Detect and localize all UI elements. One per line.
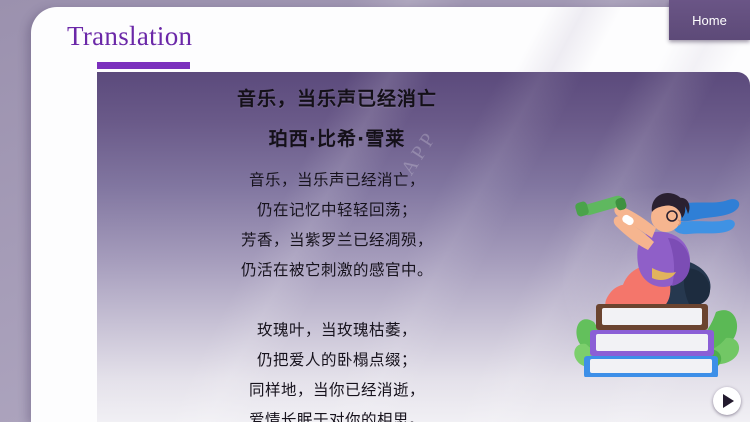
poem-line: 仍把爱人的卧榻点缀； [97,345,577,375]
poem-line: 音乐，当乐声已经消亡， [97,165,577,195]
slide-white-panel: Translation APP 音乐，当乐声已经消亡 珀西·比希·雪莱 音乐，当… [31,7,750,422]
poem-title: 音乐，当乐声已经消亡 [97,84,577,111]
stanza-gap [97,285,577,315]
slide-root: Home Translation APP 音乐，当乐声已经消亡 珀西·比希·雪莱… [0,0,750,422]
poem-line: 玫瑰叶，当玫瑰枯萎， [97,315,577,345]
poem-line: 仍在记忆中轻轻回荡； [97,195,577,225]
content-box: APP 音乐，当乐声已经消亡 珀西·比希·雪莱 音乐，当乐声已经消亡， 仍在记忆… [97,72,750,422]
poem-line: 同样地，当你已经消逝， [97,375,577,405]
poem-author: 珀西·比希·雪莱 [97,124,577,151]
page-title: Translation [67,21,192,52]
poem-block: 音乐，当乐声已经消亡 珀西·比希·雪莱 音乐，当乐声已经消亡， 仍在记忆中轻轻回… [97,84,577,422]
title-underline-rule [97,62,190,69]
play-triangle-icon [723,394,734,408]
poem-line: 仍活在被它刺激的感官中。 [97,255,577,285]
play-button[interactable] [713,387,741,415]
book-stack [584,304,718,377]
home-button-label: Home [692,13,727,28]
illustration-person-with-telescope-on-books [560,172,750,377]
poem-line: 爱情长眠于对你的相思。 [97,405,577,422]
home-button[interactable]: Home [669,0,750,40]
poem-line: 芳香，当紫罗兰已经凋殒， [97,225,577,255]
